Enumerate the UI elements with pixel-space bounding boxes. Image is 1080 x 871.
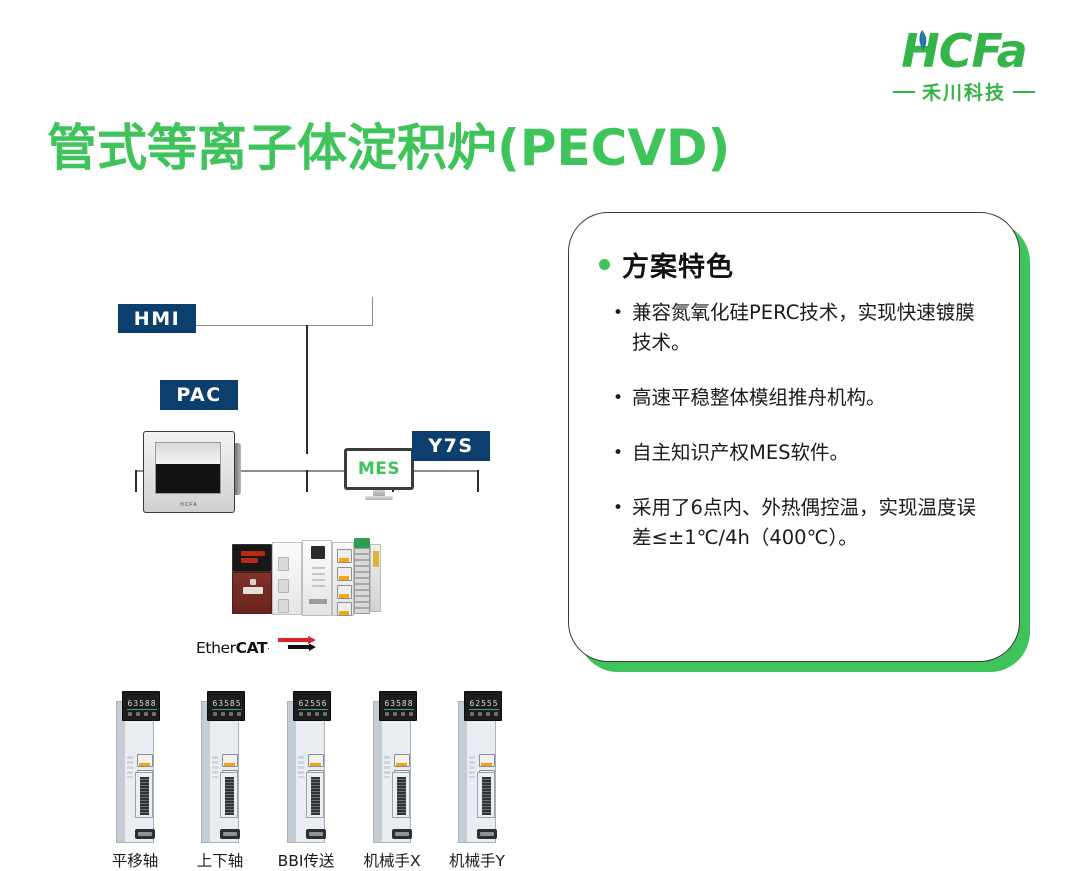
- servo-body: [373, 701, 411, 843]
- servo-power-connector: [477, 829, 497, 839]
- servo-buttons[interactable]: [385, 712, 413, 716]
- pac-slot: [278, 599, 289, 613]
- servo-buttons[interactable]: [213, 712, 241, 716]
- ethercat-prefix: Ether: [196, 639, 236, 657]
- bullet-dot-icon: [599, 259, 610, 270]
- servo-status-leds: [384, 756, 390, 778]
- ethercat-logo: EtherCAT.: [196, 635, 316, 663]
- servo-io-connector: [306, 772, 324, 818]
- servo-axis-label: 上下轴: [186, 849, 254, 871]
- hmi-side-connector: [234, 443, 241, 495]
- pac-io-module: [354, 548, 370, 614]
- y7s-badge: Y7S: [412, 431, 490, 461]
- servo-body: [116, 701, 154, 843]
- ethercat-arrow-icon: [278, 636, 316, 652]
- servo-display-underline: [384, 709, 414, 711]
- feature-bullet-text: 兼容氮氧化硅PERC技术，实现快速镀膜技术。: [632, 298, 985, 358]
- servo-buttons[interactable]: [299, 712, 327, 716]
- servo-status-leds: [298, 756, 304, 778]
- bullet-marker-icon: •: [613, 383, 623, 413]
- servo-drive: 63588 平移轴: [110, 691, 160, 843]
- wire-drive-drop-3: [306, 470, 308, 492]
- pac-slot: [278, 557, 289, 571]
- servo-buttons[interactable]: [470, 712, 498, 716]
- servo-axis-label: 平移轴: [101, 849, 169, 871]
- ethercat-suffix: CAT: [236, 639, 268, 657]
- pac-led-readout: [241, 551, 265, 565]
- pac-display: [232, 544, 272, 572]
- hmi-badge-label: HMI: [134, 308, 180, 330]
- rule-right: [1013, 91, 1035, 93]
- y7s-badge-label: Y7S: [428, 435, 473, 457]
- hmi-brand-mark: HCFA: [144, 502, 234, 508]
- ethercat-port-icon: [222, 754, 238, 767]
- feature-card: 方案特色 • 兼容氮氧化硅PERC技术，实现快速镀膜技术。 • 高速平稳整体模组…: [568, 212, 1020, 662]
- servo-axis-label: 机械手Y: [443, 849, 511, 871]
- rj45-port-icon: [337, 585, 352, 599]
- servo-display-head: 63588: [122, 691, 160, 721]
- leaf-icon: [914, 30, 930, 52]
- list-item: • 自主知识产权MES软件。: [613, 438, 985, 468]
- ethercat-registered: .: [267, 642, 269, 651]
- wire-pac-trunk: [306, 325, 308, 453]
- feature-heading: 方案特色: [599, 245, 985, 284]
- servo-display-underline: [298, 709, 328, 711]
- servo-drive: 63588 机械手X: [367, 691, 417, 843]
- pac-green-terminal: [354, 538, 370, 548]
- servo-display-value: 63588: [384, 699, 414, 708]
- servo-display-head: 62556: [293, 691, 331, 721]
- wire-drive-drop-5: [477, 470, 479, 492]
- pac-cpu-bar: [312, 585, 325, 587]
- pac-cpu-bar: [312, 567, 325, 569]
- pac-cpu-bar: [312, 579, 325, 581]
- hmi-device: HCFA: [143, 431, 235, 513]
- system-diagram: HCFA HMI MES: [0, 205, 560, 705]
- ethercat-port-icon: [479, 754, 495, 767]
- servo-display-underline: [469, 709, 499, 711]
- feature-bullet-list: • 兼容氮氧化硅PERC技术，实现快速镀膜技术。 • 高速平稳整体模组推舟机构。…: [599, 298, 985, 553]
- feature-bullet-text: 采用了6点内、外热偶控温，实现温度误差≤±1℃/4h（400℃）。: [632, 493, 985, 553]
- servo-display-value: 62556: [298, 699, 328, 708]
- servo-axis-label: 机械手X: [358, 849, 426, 871]
- feature-bullet-text: 自主知识产权MES软件。: [632, 438, 985, 468]
- hmi-screen-top: [156, 443, 220, 464]
- rj45-port-icon: [337, 602, 352, 616]
- list-item: • 兼容氮氧化硅PERC技术，实现快速镀膜技术。: [613, 298, 985, 358]
- servo-status-leds: [469, 756, 475, 778]
- servo-display-underline: [212, 709, 242, 711]
- wire-top-bus: [188, 325, 373, 326]
- ethercat-port-icon: [394, 754, 410, 767]
- rj45-port-icon: [337, 567, 352, 581]
- pac-badge-label: PAC: [176, 384, 221, 406]
- bullet-marker-icon: •: [613, 438, 623, 468]
- brand-subline: 禾川科技: [880, 78, 1048, 105]
- servo-io-connector: [477, 772, 495, 818]
- ethercat-text: EtherCAT.: [196, 639, 269, 657]
- hmi-screen: [155, 442, 221, 494]
- pac-end-indicator: [373, 551, 379, 567]
- brand-logo: HCFa 禾川科技: [880, 28, 1048, 104]
- servo-drive: 63585 上下轴: [195, 691, 245, 843]
- servo-io-connector: [392, 772, 410, 818]
- pac-ethernet-module: [332, 542, 354, 616]
- servo-body: [458, 701, 496, 843]
- servo-status-leds: [127, 756, 133, 778]
- mes-stand-base: [365, 496, 393, 500]
- pac-cpu-module: [302, 540, 332, 616]
- servo-drive: 62556 BBI传送: [281, 691, 331, 843]
- servo-axis-label: BBI传送: [272, 849, 340, 871]
- servo-display-value: 63585: [212, 699, 242, 708]
- servo-drive: 62555 机械手Y: [452, 691, 502, 843]
- servo-display-value: 63588: [127, 699, 157, 708]
- servo-power-connector: [135, 829, 155, 839]
- list-item: • 采用了6点内、外热偶控温，实现温度误差≤±1℃/4h（400℃）。: [613, 493, 985, 553]
- brand-wordmark: HCFa: [880, 28, 1048, 74]
- pac-module-tag: [243, 587, 263, 594]
- servo-body: [287, 701, 325, 843]
- servo-display-value: 62555: [469, 699, 499, 708]
- bullet-marker-icon: •: [613, 493, 623, 553]
- brand-chinese-name: 禾川科技: [922, 78, 1006, 105]
- pac-end-cap: [370, 544, 381, 612]
- servo-status-leds: [212, 756, 218, 778]
- pac-badge: PAC: [160, 380, 238, 410]
- hmi-badge: HMI: [118, 304, 196, 333]
- servo-display-underline: [127, 709, 157, 711]
- servo-io-connector: [135, 772, 153, 818]
- mes-label: MES: [358, 459, 400, 479]
- pac-expansion-module: [272, 542, 302, 615]
- pac-cpu-plate: [309, 599, 327, 604]
- mes-screen: MES: [344, 448, 414, 490]
- hmi-body: HCFA: [143, 431, 235, 513]
- pac-cpu-screen: [311, 546, 325, 559]
- feature-heading-label: 方案特色: [622, 245, 734, 284]
- servo-io-connector: [220, 772, 238, 818]
- ethercat-port-icon: [308, 754, 324, 767]
- servo-display-head: 62555: [464, 691, 502, 721]
- list-item: • 高速平稳整体模组推舟机构。: [613, 383, 985, 413]
- servo-display-head: 63585: [207, 691, 245, 721]
- pac-module-nub: [250, 579, 256, 585]
- ethercat-port-icon: [137, 754, 153, 767]
- pac-device: [232, 538, 382, 618]
- servo-drive-row: 63588 平移轴 63585: [110, 691, 530, 871]
- wire-mes-drop: [372, 297, 373, 326]
- mes-device: MES: [344, 448, 414, 502]
- rule-left: [893, 91, 915, 93]
- wire-pac-link: [306, 453, 308, 454]
- pac-slot: [278, 579, 289, 593]
- servo-power-connector: [220, 829, 240, 839]
- pac-power-module: [232, 572, 272, 614]
- rj45-port-icon: [337, 549, 352, 563]
- wire-drive-drop-1: [135, 470, 137, 492]
- hmi-screen-bottom: [156, 464, 220, 493]
- servo-buttons[interactable]: [128, 712, 156, 716]
- servo-display-head: 63588: [379, 691, 417, 721]
- page-title: 管式等离子体淀积炉(PECVD): [47, 118, 730, 178]
- slide-root: HCFa 禾川科技 管式等离子体淀积炉(PECVD) 方案特色 • 兼容氮: [0, 0, 1080, 747]
- servo-body: [201, 701, 239, 843]
- servo-power-connector: [392, 829, 412, 839]
- feature-bullet-text: 高速平稳整体模组推舟机构。: [632, 383, 985, 413]
- servo-power-connector: [306, 829, 326, 839]
- bullet-marker-icon: •: [613, 298, 623, 358]
- pac-cpu-bar: [312, 573, 325, 575]
